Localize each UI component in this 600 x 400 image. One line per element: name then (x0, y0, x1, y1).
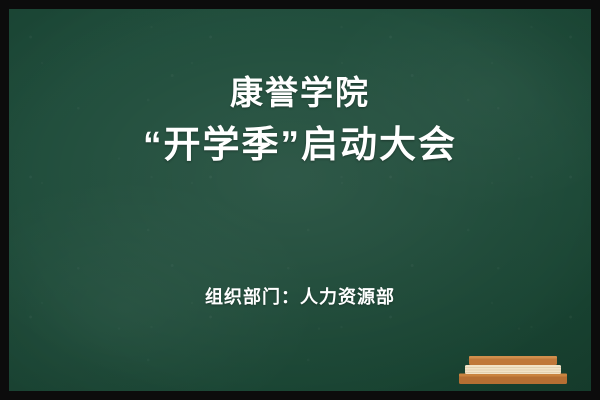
subtitle-organizing-department: 组织部门：人力资源部 (9, 283, 591, 309)
stacked-books-icon (453, 345, 573, 391)
slide-content: 康誉学院 “开学季”启动大会 组织部门：人力资源部 (9, 9, 591, 391)
title-block: 康誉学院 “开学季”启动大会 (9, 71, 591, 171)
page-title-line-2: “开学季”启动大会 (9, 119, 591, 171)
chalkboard-slide: 康誉学院 “开学季”启动大会 组织部门：人力资源部 (0, 0, 600, 400)
page-title-line-1: 康誉学院 (9, 71, 591, 115)
